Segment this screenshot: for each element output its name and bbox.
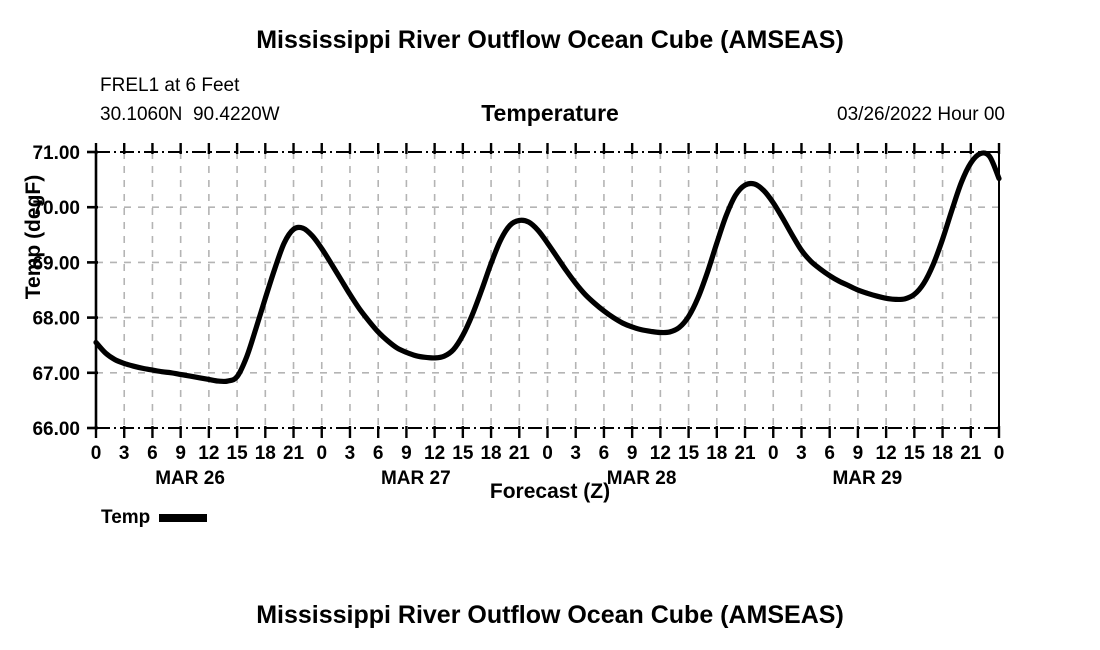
x-tick-label: 15 xyxy=(227,443,249,464)
legend: Temp xyxy=(101,507,207,529)
x-tick-label: 0 xyxy=(994,443,1005,464)
x-tick-label: 6 xyxy=(373,443,384,464)
chart-page: Mississippi River Outflow Ocean Cube (AM… xyxy=(0,0,1100,650)
x-tick-label: 21 xyxy=(283,443,305,464)
x-tick-label: 6 xyxy=(147,443,158,464)
footer-title: Mississippi River Outflow Ocean Cube (AM… xyxy=(0,601,1100,630)
x-tick-label: 3 xyxy=(119,443,130,464)
x-tick-label: 18 xyxy=(706,443,727,464)
x-tick-label: 0 xyxy=(91,443,102,464)
x-tick-label: 18 xyxy=(255,443,276,464)
x-tick-label: 15 xyxy=(904,443,926,464)
x-tick-label: 9 xyxy=(853,443,864,464)
x-tick-label: 6 xyxy=(599,443,610,464)
x-tick-label: 3 xyxy=(345,443,356,464)
x-tick-label: 9 xyxy=(175,443,186,464)
plot-area: 66.0067.0068.0069.0070.0071.000369121518… xyxy=(0,0,1100,650)
y-tick-label: 67.00 xyxy=(32,364,80,385)
chart-svg: 66.0067.0068.0069.0070.0071.000369121518… xyxy=(0,0,1100,650)
x-tick-label: 15 xyxy=(678,443,700,464)
x-tick-label: 0 xyxy=(316,443,327,464)
x-tick-label: 3 xyxy=(796,443,807,464)
x-tick-label: 6 xyxy=(824,443,835,464)
x-tick-label: 12 xyxy=(876,443,897,464)
x-tick-label: 12 xyxy=(424,443,445,464)
legend-swatch-temp xyxy=(159,514,207,522)
x-tick-label: 9 xyxy=(401,443,412,464)
x-tick-label: 18 xyxy=(480,443,501,464)
x-tick-label: 21 xyxy=(509,443,531,464)
y-tick-label: 66.00 xyxy=(32,419,80,440)
x-axis-label: Forecast (Z) xyxy=(0,480,1100,504)
x-tick-label: 15 xyxy=(452,443,474,464)
x-tick-label: 9 xyxy=(627,443,638,464)
x-tick-label: 12 xyxy=(198,443,219,464)
x-tick-label: 21 xyxy=(960,443,982,464)
x-tick-label: 18 xyxy=(932,443,953,464)
x-tick-label: 0 xyxy=(768,443,779,464)
legend-label-temp: Temp xyxy=(101,507,150,529)
y-axis-label: Temp (degF) xyxy=(22,157,46,317)
x-tick-label: 0 xyxy=(542,443,553,464)
x-tick-label: 21 xyxy=(734,443,756,464)
x-tick-label: 12 xyxy=(650,443,671,464)
x-tick-label: 3 xyxy=(570,443,581,464)
